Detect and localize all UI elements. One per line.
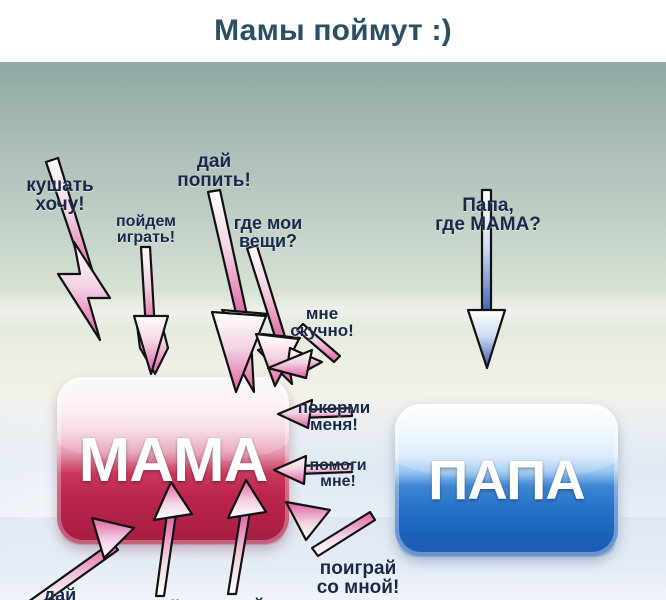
callout-day-popit: дай попить! — [168, 152, 260, 190]
callout-gde-moi-veshi: где мои вещи? — [222, 214, 314, 250]
arrow-poidem-igrat — [134, 247, 168, 374]
callout-kushat-hochu: кушать хочу! — [8, 176, 112, 214]
image-canvas: Мамы поймут :) МАМА ПАПА — [0, 0, 666, 600]
title-bar: Мамы поймут :) — [0, 0, 666, 62]
callout-mne-skuchno: мне скучно! — [278, 305, 366, 339]
papa-card-label: ПАПА — [395, 452, 618, 508]
callout-poigray-so-mnoy: поиграй со мной! — [300, 559, 416, 597]
mama-card: МАМА — [57, 377, 289, 544]
page-title: Мамы поймут :) — [214, 16, 452, 46]
callout-papa-gde-mama: Папа, где МАМА? — [418, 196, 558, 234]
callout-day-konfetu-1: дай конфету! — [4, 586, 116, 600]
mama-card-label: МАМА — [57, 430, 289, 492]
callout-pomogi-mne: помоги мне! — [296, 458, 380, 490]
callout-pokormi-menya: покорми меня! — [288, 399, 380, 433]
callout-poidem-gulyat: пойдем гулять! — [218, 596, 312, 600]
arrow-poigray — [286, 502, 375, 556]
callout-poidem-igrat: пойдем играть! — [100, 214, 192, 246]
papa-card: ПАПА — [395, 404, 618, 556]
meme-photo: МАМА ПАПА — [0, 62, 666, 600]
